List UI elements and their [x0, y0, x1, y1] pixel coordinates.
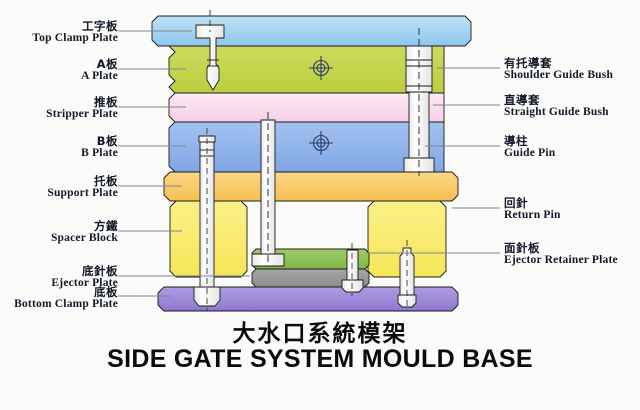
label-a-plate: A板 A Plate — [0, 58, 118, 83]
label-bottom-clamp-plate: 底板 Bottom Clamp Plate — [0, 286, 118, 311]
label-en: Top Clamp Plate — [0, 32, 118, 44]
label-support-plate: 托板 Support Plate — [0, 175, 118, 200]
label-en: A Plate — [0, 70, 118, 82]
label-cn: B板 — [0, 135, 118, 147]
label-stripper-plate: 推板 Stripper Plate — [0, 96, 118, 121]
label-top-clamp-plate: 工字板 Top Clamp Plate — [0, 20, 118, 45]
label-en: B Plate — [0, 147, 118, 159]
label-cn: 推板 — [0, 96, 118, 108]
title-english: SIDE GATE SYSTEM MOULD BASE — [0, 345, 640, 374]
label-cn: 回針 — [504, 197, 561, 209]
label-cn: 導柱 — [504, 135, 555, 147]
label-en: Return Pin — [504, 209, 561, 221]
label-guide-pin: 導柱 Guide Pin — [504, 135, 555, 160]
label-en: Ejector Retainer Plate — [504, 254, 618, 266]
label-cn: A板 — [0, 58, 118, 70]
label-spacer-block: 方鐵 Spacer Block — [0, 220, 118, 245]
label-en: Shoulder Guide Bush — [504, 69, 613, 81]
label-return-pin: 回針 Return Pin — [504, 197, 561, 222]
label-cn: 托板 — [0, 175, 118, 187]
plate-stripper — [169, 93, 444, 122]
label-b-plate: B板 B Plate — [0, 135, 118, 160]
label-shoulder-guide-bush: 有托導套 Shoulder Guide Bush — [504, 57, 613, 82]
label-cn: 工字板 — [0, 20, 118, 32]
label-cn: 底板 — [0, 286, 118, 298]
label-en: Straight Guide Bush — [504, 106, 609, 118]
title-chinese: 大水口系統模架 — [0, 314, 640, 348]
label-cn: 面針板 — [504, 242, 618, 254]
label-en: Guide Pin — [504, 147, 555, 159]
label-cn: 有托導套 — [504, 57, 613, 69]
label-en: Spacer Block — [0, 232, 118, 244]
label-cn: 方鐵 — [0, 220, 118, 232]
label-en: Stripper Plate — [0, 108, 118, 120]
label-cn: 直導套 — [504, 94, 609, 106]
label-cn: 底針板 — [0, 265, 118, 277]
label-en: Support Plate — [0, 187, 118, 199]
label-straight-guide-bush: 直導套 Straight Guide Bush — [504, 94, 609, 119]
label-en: Bottom Clamp Plate — [0, 298, 118, 310]
label-ejector-retainer-plate: 面針板 Ejector Retainer Plate — [504, 242, 618, 267]
